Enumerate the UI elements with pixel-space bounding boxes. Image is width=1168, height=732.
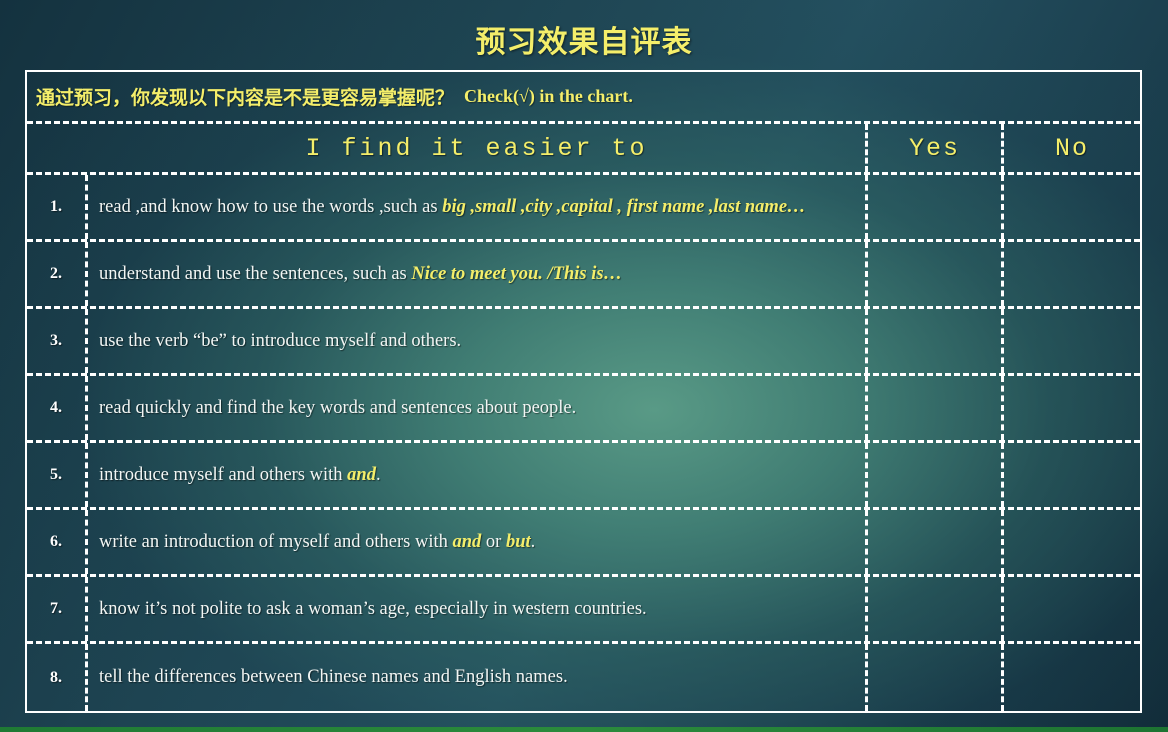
no-checkbox-cell[interactable] xyxy=(1004,510,1140,574)
row-statement: tell the differences between Chinese nam… xyxy=(88,644,868,711)
subtitle-chinese: 通过预习，你发现以下内容是不是更容易掌握呢？ xyxy=(36,83,454,110)
yes-checkbox-cell[interactable] xyxy=(868,376,1004,440)
statement-text: . xyxy=(531,532,536,552)
highlighted-term: but xyxy=(506,532,531,552)
statement-text: or xyxy=(481,532,506,552)
bottom-accent-strip xyxy=(0,727,1168,732)
row-number: 6. xyxy=(27,510,88,574)
row-number: 1. xyxy=(27,175,88,239)
highlighted-term: and xyxy=(347,465,376,485)
statement-text: tell the differences between Chinese nam… xyxy=(99,667,568,687)
table-header-row: I find it easier to Yes No xyxy=(27,124,1140,175)
table-row: 7.know it’s not polite to ask a woman’s … xyxy=(27,577,1140,644)
yes-checkbox-cell[interactable] xyxy=(868,510,1004,574)
statement-text: introduce myself and others with xyxy=(99,465,347,485)
self-assessment-table: 通过预习，你发现以下内容是不是更容易掌握呢？ Check(√) in the c… xyxy=(25,70,1142,713)
statement-text: know it’s not polite to ask a woman’s ag… xyxy=(99,599,647,619)
table-row: 8.tell the differences between Chinese n… xyxy=(27,644,1140,711)
row-number: 7. xyxy=(27,577,88,641)
yes-checkbox-cell[interactable] xyxy=(868,309,1004,373)
highlighted-term: big ,small ,city ,capital , xyxy=(442,197,622,217)
row-number: 8. xyxy=(27,644,88,711)
row-number: 4. xyxy=(27,376,88,440)
yes-checkbox-cell[interactable] xyxy=(868,443,1004,507)
table-body: 1.read ,and know how to use the words ,s… xyxy=(27,175,1140,711)
slide-canvas: 预习效果自评表 通过预习，你发现以下内容是不是更容易掌握呢？ Check(√) … xyxy=(0,0,1168,732)
no-checkbox-cell[interactable] xyxy=(1004,577,1140,641)
statement-text: read ,and know how to use the words ,suc… xyxy=(99,197,442,217)
row-statement: use the verb “be” to introduce myself an… xyxy=(88,309,868,373)
page-title: 预习效果自评表 xyxy=(0,17,1168,61)
table-grid: I find it easier to Yes No 1.read ,and k… xyxy=(27,124,1140,711)
table-row: 3.use the verb “be” to introduce myself … xyxy=(27,309,1140,376)
header-yes-cell: Yes xyxy=(868,124,1004,172)
header-no-cell: No xyxy=(1004,124,1140,172)
no-checkbox-cell[interactable] xyxy=(1004,644,1140,711)
row-number: 3. xyxy=(27,309,88,373)
row-statement: know it’s not polite to ask a woman’s ag… xyxy=(88,577,868,641)
row-statement: write an introduction of myself and othe… xyxy=(88,510,868,574)
row-statement: read ,and know how to use the words ,suc… xyxy=(88,175,868,239)
header-statement-cell: I find it easier to xyxy=(88,124,868,172)
subtitle-english: Check(√) in the chart. xyxy=(464,86,633,107)
no-checkbox-cell[interactable] xyxy=(1004,175,1140,239)
yes-checkbox-cell[interactable] xyxy=(868,175,1004,239)
header-number-cell xyxy=(27,124,88,172)
no-checkbox-cell[interactable] xyxy=(1004,443,1140,507)
table-row: 6.write an introduction of myself and ot… xyxy=(27,510,1140,577)
row-number: 5. xyxy=(27,443,88,507)
table-row: 1.read ,and know how to use the words ,s… xyxy=(27,175,1140,242)
table-subtitle-band: 通过预习，你发现以下内容是不是更容易掌握呢？ Check(√) in the c… xyxy=(27,72,1140,124)
row-number: 2. xyxy=(27,242,88,306)
table-row: 2.understand and use the sentences, such… xyxy=(27,242,1140,309)
statement-text: understand and use the sentences, such a… xyxy=(99,264,411,284)
no-checkbox-cell[interactable] xyxy=(1004,242,1140,306)
no-checkbox-cell[interactable] xyxy=(1004,309,1140,373)
row-statement: introduce myself and others with and. xyxy=(88,443,868,507)
highlighted-term: Nice to meet you. /This is… xyxy=(411,264,622,284)
table-row: 4.read quickly and find the key words an… xyxy=(27,376,1140,443)
statement-text: . xyxy=(376,465,381,485)
yes-checkbox-cell[interactable] xyxy=(868,577,1004,641)
highlighted-term: first name ,last name… xyxy=(627,197,806,217)
table-row: 5.introduce myself and others with and. xyxy=(27,443,1140,510)
no-checkbox-cell[interactable] xyxy=(1004,376,1140,440)
statement-text: use the verb “be” to introduce myself an… xyxy=(99,331,461,351)
statement-text: read quickly and find the key words and … xyxy=(99,398,576,418)
statement-text: write an introduction of myself and othe… xyxy=(99,532,452,552)
row-statement: understand and use the sentences, such a… xyxy=(88,242,868,306)
row-statement: read quickly and find the key words and … xyxy=(88,376,868,440)
highlighted-term: and xyxy=(452,532,481,552)
yes-checkbox-cell[interactable] xyxy=(868,644,1004,711)
yes-checkbox-cell[interactable] xyxy=(868,242,1004,306)
